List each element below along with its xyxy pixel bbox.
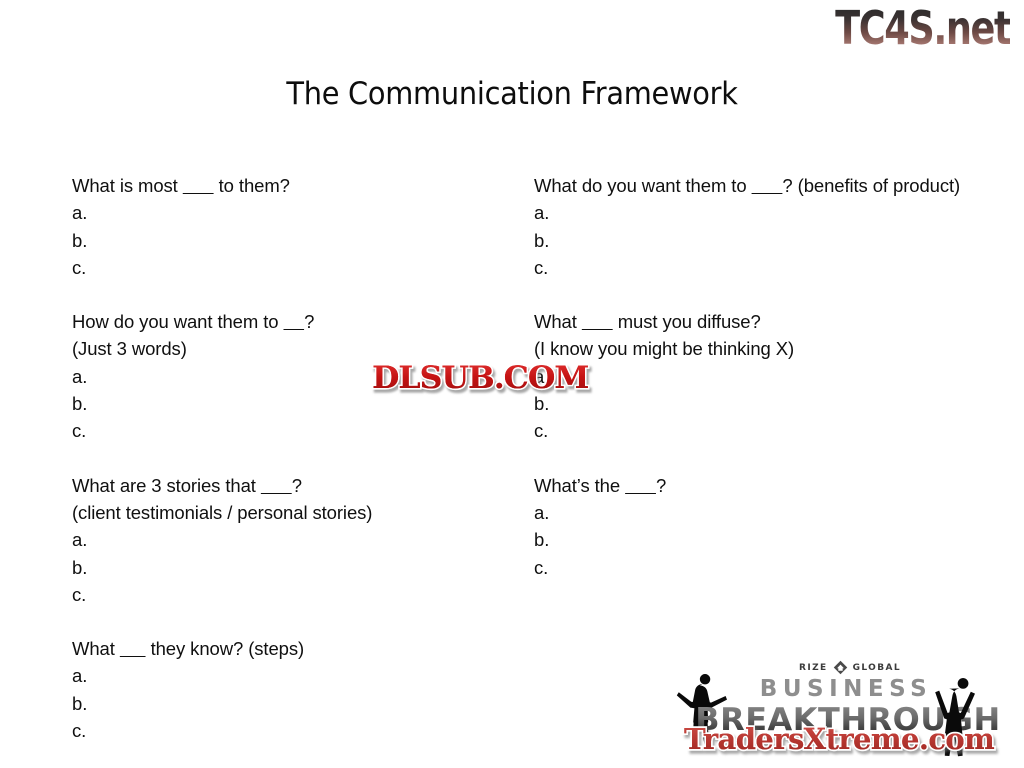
option-b: b. <box>72 554 492 581</box>
option-c: c. <box>72 717 492 744</box>
option-b: b. <box>72 690 492 717</box>
question-block: What are 3 stories that ? (client testim… <box>72 472 492 608</box>
fill-in-blank <box>582 311 613 332</box>
option-b: b. <box>534 390 976 417</box>
global-label: GLOBAL <box>853 663 901 673</box>
rize-diamond-icon <box>833 660 848 675</box>
option-b: b. <box>72 227 492 254</box>
spacer <box>72 608 492 635</box>
left-column: What is most to them? a. b. c. How do yo… <box>72 172 492 744</box>
option-c: c. <box>534 417 976 444</box>
question-block: What is most to them? a. b. c. <box>72 172 492 281</box>
question-text: What’s the ? <box>534 472 976 499</box>
fill-in-blank <box>625 475 656 496</box>
option-a: a. <box>72 526 492 553</box>
rize-label: RIZE <box>799 663 828 673</box>
question-text: What is most to them? <box>72 172 492 199</box>
question-block: What do you want them to ? (benefits of … <box>534 172 976 281</box>
option-a: a. <box>534 199 976 226</box>
question-text: What they know? (steps) <box>72 635 492 662</box>
option-a: a. <box>534 499 976 526</box>
question-text: What are 3 stories that ? <box>72 472 492 499</box>
option-b: b. <box>534 526 976 553</box>
spacer <box>534 281 976 308</box>
spacer <box>72 281 492 308</box>
question-note: (Just 3 words) <box>72 335 492 362</box>
dlsub-watermark: DLSUB.COM DLSUB.COM <box>372 361 584 395</box>
question-block: What must you diffuse? (I know you might… <box>534 308 976 444</box>
question-block: What’s the ? a. b. c. <box>534 472 976 581</box>
page-title: The Communication Framework <box>36 76 988 112</box>
tc4s-watermark: TC4S.net <box>835 6 1010 52</box>
fill-in-blank <box>752 175 783 196</box>
question-text: What must you diffuse? <box>534 308 976 335</box>
tradersxtreme-watermark-fill: TradersXtreme.com <box>684 722 994 756</box>
right-column: What do you want them to ? (benefits of … <box>534 172 976 581</box>
dlsub-watermark-fill: DLSUB.COM <box>372 361 588 395</box>
option-a: a. <box>534 363 976 390</box>
slide-canvas: TC4S.net TC4S.net The Communication Fram… <box>0 0 1024 768</box>
question-text: How do you want them to ? <box>72 308 492 335</box>
option-b: b. <box>534 227 976 254</box>
fill-in-blank <box>183 175 214 196</box>
question-note: (I know you might be thinking X) <box>534 335 976 362</box>
option-c: c. <box>72 581 492 608</box>
option-c: c. <box>534 554 976 581</box>
fill-in-blank <box>261 475 292 496</box>
option-c: c. <box>534 254 976 281</box>
fill-in-blank <box>120 638 146 659</box>
spacer <box>72 445 492 472</box>
option-c: c. <box>72 417 492 444</box>
rize-global-wordmark: RIZE GLOBAL <box>750 660 950 675</box>
question-text: What do you want them to ? (benefits of … <box>534 172 976 199</box>
question-note: (client testimonials / personal stories) <box>72 499 492 526</box>
option-c: c. <box>72 254 492 281</box>
option-a: a. <box>72 199 492 226</box>
option-a: a. <box>72 662 492 689</box>
spacer <box>534 445 976 472</box>
question-block: What they know? (steps) a. b. c. <box>72 635 492 744</box>
fill-in-blank <box>284 311 305 332</box>
